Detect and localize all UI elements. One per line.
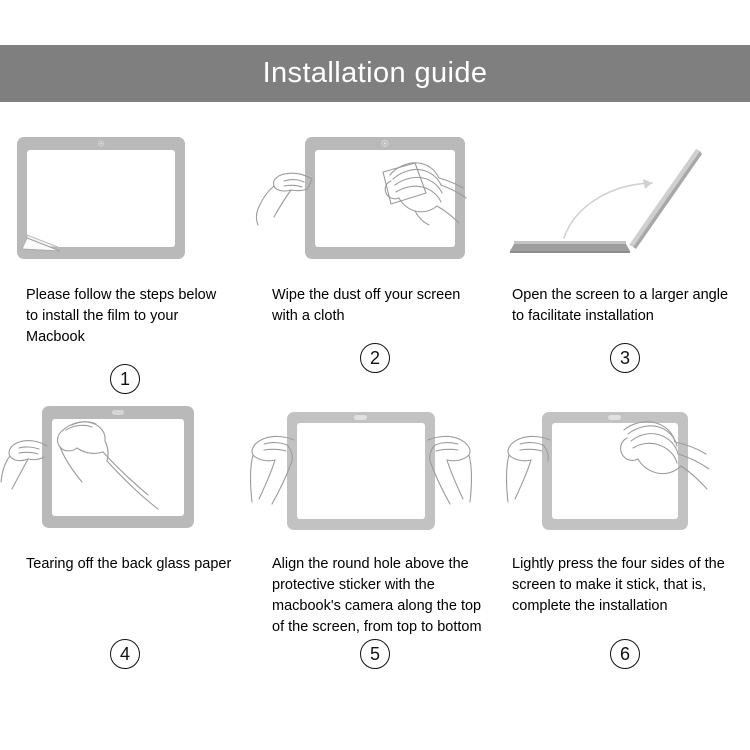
hand-pressing-screen-edges-icon [500, 394, 750, 544]
hands-tearing-back-paper-icon [0, 394, 250, 544]
step-1-illustration [0, 125, 250, 275]
step-2-illustration [250, 125, 500, 275]
step-4-caption: Tearing off the back glass paper [0, 554, 250, 575]
step-5-illustration [250, 394, 500, 544]
installation-steps-grid: Please follow the steps below to install… [0, 125, 750, 638]
screen-with-peeling-film-corner-icon [0, 125, 250, 275]
laptop-side-profile-opening-arrow-icon [500, 125, 750, 275]
step-number-badge-2: 2 [360, 343, 390, 373]
step-1-caption: Please follow the steps below to install… [0, 285, 250, 348]
step-5-badge-row: 5 [250, 639, 500, 669]
step-3-badge-row: 3 [500, 343, 750, 373]
two-hands-aligning-film-icon [250, 394, 500, 544]
header-banner: Installation guide [0, 45, 750, 102]
step-card-6: Lightly press the four sides of the scre… [500, 394, 750, 638]
step-number-badge-4: 4 [110, 639, 140, 669]
step-6-badge-row: 6 [500, 639, 750, 669]
step-4-badge-row: 4 [0, 639, 250, 669]
step-6-caption: Lightly press the four sides of the scre… [500, 554, 750, 617]
step-number-badge-1: 1 [110, 364, 140, 394]
step-card-3: Open the screen to a larger angle to fac… [500, 125, 750, 394]
step-card-2: Wipe the dust off your screen with a clo… [250, 125, 500, 394]
step-number-badge-3: 3 [610, 343, 640, 373]
step-5-caption: Align the round hole above the protectiv… [250, 554, 500, 638]
step-6-illustration [500, 394, 750, 544]
step-4-illustration [0, 394, 250, 544]
step-2-badge-row: 2 [250, 343, 500, 373]
step-3-caption: Open the screen to a larger angle to fac… [500, 285, 750, 327]
hand-wiping-screen-with-cloth-icon [250, 125, 500, 275]
step-3-illustration [500, 125, 750, 275]
page-title: Installation guide [263, 59, 488, 88]
step-card-1: Please follow the steps below to install… [0, 125, 250, 394]
step-2-caption: Wipe the dust off your screen with a clo… [250, 285, 500, 327]
step-card-5: Align the round hole above the protectiv… [250, 394, 500, 638]
step-1-badge-row: 1 [0, 364, 250, 394]
step-card-4: Tearing off the back glass paper 4 [0, 394, 250, 638]
step-number-badge-5: 5 [360, 639, 390, 669]
step-number-badge-6: 6 [610, 639, 640, 669]
